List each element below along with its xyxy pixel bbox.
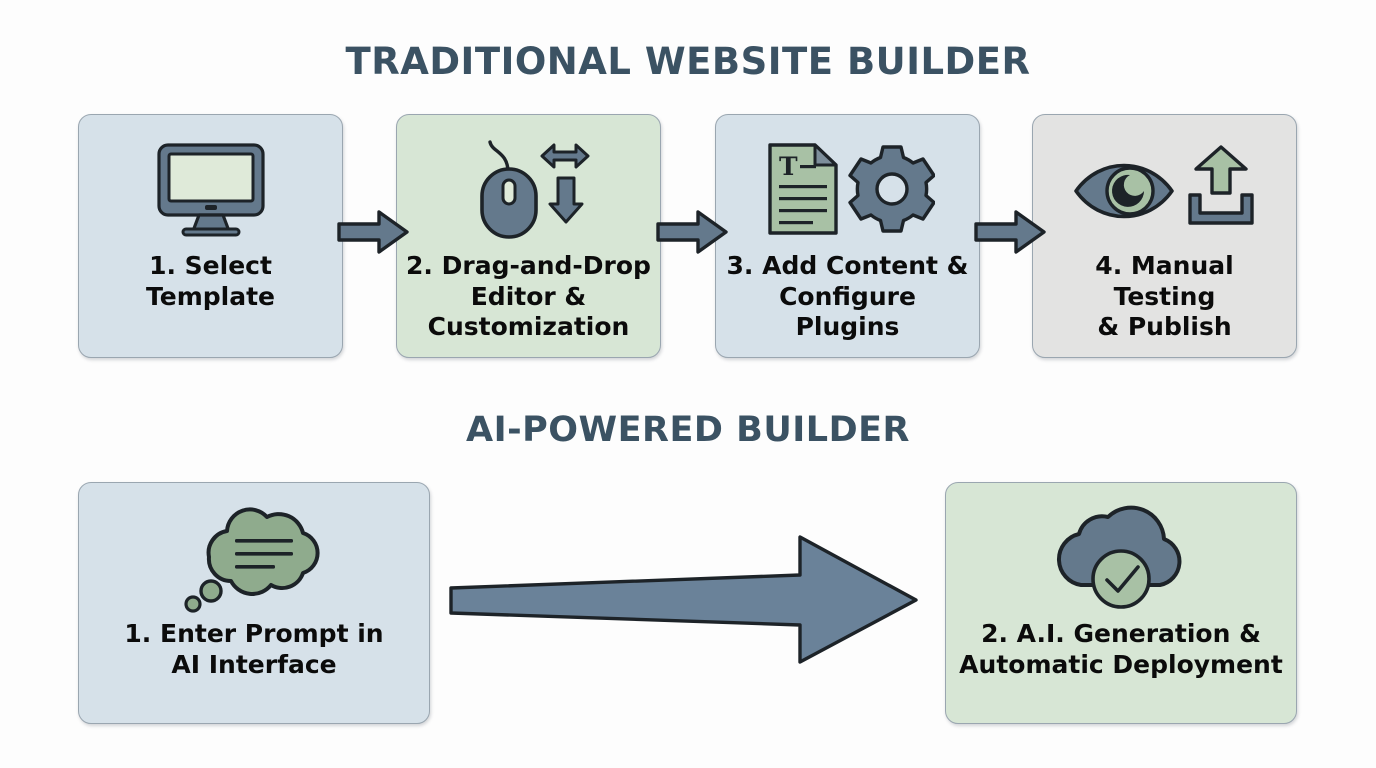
section-title-traditional: TRADITIONAL WEBSITE BUILDER <box>0 40 1376 83</box>
arrow-right-icon <box>337 209 409 255</box>
step-card-enter-prompt[interactable]: 1. Enter Prompt in AI Interface <box>78 482 430 724</box>
long-arrow-right-icon <box>448 520 934 680</box>
arrow-right-icon <box>974 209 1046 255</box>
step-card-select-template[interactable]: 1. Select Template <box>78 114 343 358</box>
step-card-label: 2. Drag-and-Drop Editor & Customization <box>398 251 659 343</box>
step-card-label: 1. Enter Prompt in AI Interface <box>116 619 391 680</box>
step-card-label: 4. Manual Testing & Publish <box>1033 251 1296 343</box>
diagram-canvas: TRADITIONAL WEBSITE BUILDER 1. Select Te… <box>0 0 1376 768</box>
step-card-label: 2. A.I. Generation & Automatic Deploymen… <box>951 619 1291 680</box>
thought-bubble-icon <box>179 501 329 613</box>
step-card-add-content[interactable]: T 3. Add Content & Configure Plugins <box>715 114 980 358</box>
eye-upload-icon <box>1070 133 1260 245</box>
cloud-check-icon <box>1046 501 1196 613</box>
arrow-right-icon <box>656 209 728 255</box>
document-gear-icon: T <box>760 133 935 245</box>
step-card-manual-testing[interactable]: 4. Manual Testing & Publish <box>1032 114 1297 358</box>
svg-text:T: T <box>779 152 798 181</box>
step-card-ai-generation[interactable]: 2. A.I. Generation & Automatic Deploymen… <box>945 482 1297 724</box>
step-card-label: 3. Add Content & Configure Plugins <box>716 251 979 343</box>
monitor-icon <box>151 133 271 245</box>
step-card-label: 1. Select Template <box>79 251 342 312</box>
section-title-ai-powered: AI-POWERED BUILDER <box>0 410 1376 450</box>
step-card-drag-and-drop[interactable]: 2. Drag-and-Drop Editor & Customization <box>396 114 661 358</box>
mouse-drag-icon <box>464 133 594 245</box>
